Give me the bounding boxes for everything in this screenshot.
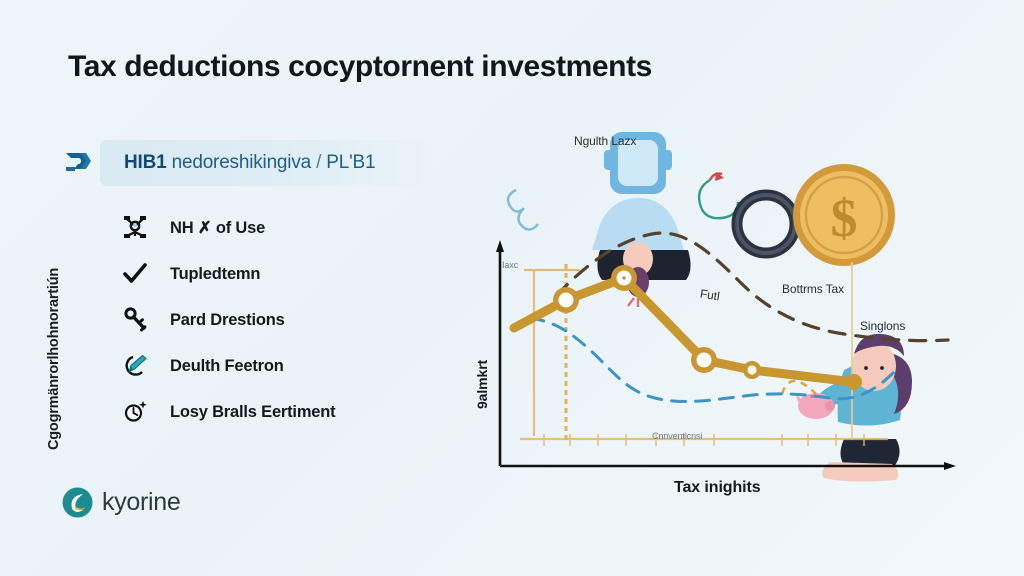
highlight-code: PL'B1: [326, 152, 375, 173]
list-item[interactable]: NH ✗ of Use: [118, 205, 448, 251]
list-item-label: NH ✗ of Use: [170, 218, 265, 238]
check-icon: [118, 259, 152, 289]
small-blue-squiggle-icon: [508, 190, 538, 230]
woman-with-piggybank-icon: [782, 334, 912, 482]
brand-glyph-icon: [63, 147, 93, 177]
feature-list: NH ✗ of Use Tupledtemn: [118, 205, 448, 435]
highlight-secondary: nedoreshikingiva: [172, 152, 311, 173]
brand-logo-text: kyorine: [102, 488, 181, 517]
list-item-label: Tupledtemn: [170, 265, 260, 284]
network-node-icon: [118, 213, 152, 243]
list-item-label: Losy Bralls Eertiment: [170, 403, 335, 422]
dark-ring-icon: [737, 195, 795, 253]
chart-x-axis-label: Tax inighits: [674, 479, 761, 497]
highlight-banner-text: HIB1 nedoreshikingiva / PL'B1: [100, 152, 375, 174]
brand-logo[interactable]: kyorine: [62, 487, 181, 518]
highlight-banner[interactable]: HIB1 nedoreshikingiva / PL'B1: [100, 140, 430, 186]
list-item[interactable]: Tupledtemn: [118, 251, 448, 297]
list-item[interactable]: Pard Drestions: [118, 297, 448, 343]
highlight-primary: HIB1: [124, 152, 167, 173]
chart-annotation-bottrms-tax: Bottrms Tax: [782, 282, 844, 296]
chart-annotation-futl: Futl: [699, 287, 721, 304]
teal-squiggle-icon: [699, 172, 738, 218]
pen-edit-icon: [118, 351, 152, 381]
list-item[interactable]: Losy Bralls Eertiment: [118, 389, 448, 435]
list-item-label: Pard Drestions: [170, 311, 285, 330]
list-item[interactable]: Deulth Feetron: [118, 343, 448, 389]
svg-text:$: $: [831, 188, 858, 248]
kyorine-circle-icon: [62, 487, 93, 518]
chart-annotation-iaxc: Iaxc: [502, 260, 518, 270]
chart-canvas: $: [452, 84, 992, 514]
list-item-label: Deulth Feetron: [170, 357, 284, 376]
sidebar-vertical-label: Cgogrmänrorlhohnorartiún: [46, 200, 62, 450]
clock-sparkle-icon: [118, 397, 152, 427]
key-icon: [118, 305, 152, 335]
slide-root: Tax deductions cocyptornent investments …: [0, 0, 1024, 576]
chart-panel: $: [452, 84, 992, 514]
illustration-top-label: Ngulth Lazx: [574, 134, 636, 148]
left-column: Cgogrmänrorlhohnorartiún HIB1 nedoreshik…: [0, 0, 460, 576]
dollar-coin-icon: $: [793, 164, 895, 266]
chart-annotation-singlons: Singlons: [860, 319, 905, 333]
chart-y-axis-label: 9almkrt: [474, 360, 490, 409]
chart-annotation-conventions: Cnnventlcnsi: [652, 431, 702, 441]
